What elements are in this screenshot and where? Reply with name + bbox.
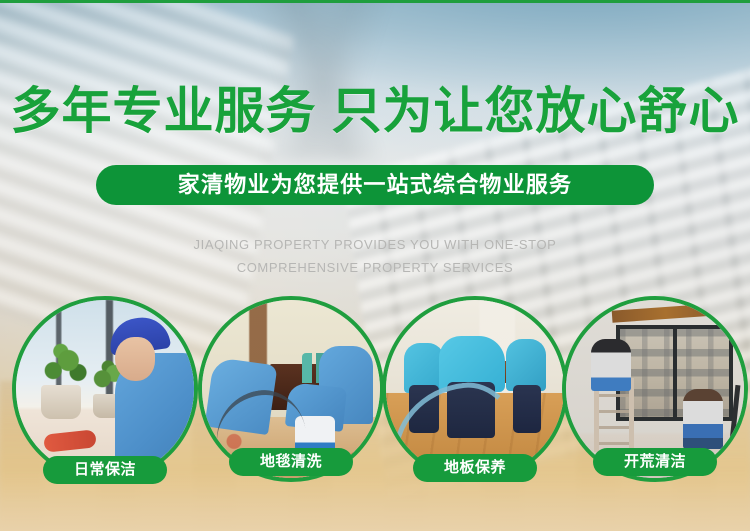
- service-label-carpet-cleaning[interactable]: 地毯清洗: [229, 448, 353, 476]
- potted-plant-icon: [37, 343, 91, 389]
- cleaner-figure-at-window: [683, 389, 723, 449]
- promo-banner: 多年专业服务 只为让您放心舒心 家清物业为您提供一站式综合物业服务 JIAQIN…: [0, 0, 750, 531]
- cleaning-cloth-icon: [44, 429, 98, 452]
- window-mullion: [673, 329, 677, 417]
- service-label-post-construction-cleaning[interactable]: 开荒清洁: [593, 448, 717, 476]
- ceiling-beam: [612, 303, 719, 322]
- english-subtitle-line-1: JIAQING PROPERTY PROVIDES YOU WITH ONE-S…: [0, 233, 750, 256]
- floor-maintenance-photo: [386, 300, 564, 478]
- service-item-daily-cleaning[interactable]: 日常保洁: [12, 296, 198, 482]
- english-subtitle: JIAQING PROPERTY PROVIDES YOU WITH ONE-S…: [0, 233, 750, 279]
- cleaner-figure-right: [506, 339, 546, 391]
- cleaner-figure-on-ladder: [591, 339, 631, 391]
- cleaner-face: [115, 337, 155, 381]
- service-item-floor-maintenance[interactable]: 地板保养: [382, 296, 568, 482]
- service-label-floor-maintenance[interactable]: 地板保养: [413, 454, 537, 482]
- top-green-rule: [0, 0, 750, 3]
- daily-cleaning-photo: [16, 300, 194, 478]
- service-item-carpet-cleaning[interactable]: 地毯清洗: [198, 296, 384, 482]
- tagline-text: 家清物业为您提供一站式综合物业服务: [178, 174, 572, 196]
- service-item-post-construction-cleaning[interactable]: 开荒清洁: [562, 296, 748, 482]
- tagline-pill: 家清物业为您提供一站式综合物业服务: [96, 165, 654, 205]
- service-label-daily-cleaning[interactable]: 日常保洁: [43, 456, 167, 484]
- service-circle-row: 日常保洁 地毯清洗: [0, 296, 750, 496]
- page-title: 多年专业服务 只为让您放心舒心: [0, 82, 750, 140]
- service-circle-frame: [12, 296, 198, 482]
- english-subtitle-line-2: COMPREHENSIVE PROPERTY SERVICES: [0, 256, 750, 279]
- flower-pot-icon: [41, 385, 81, 419]
